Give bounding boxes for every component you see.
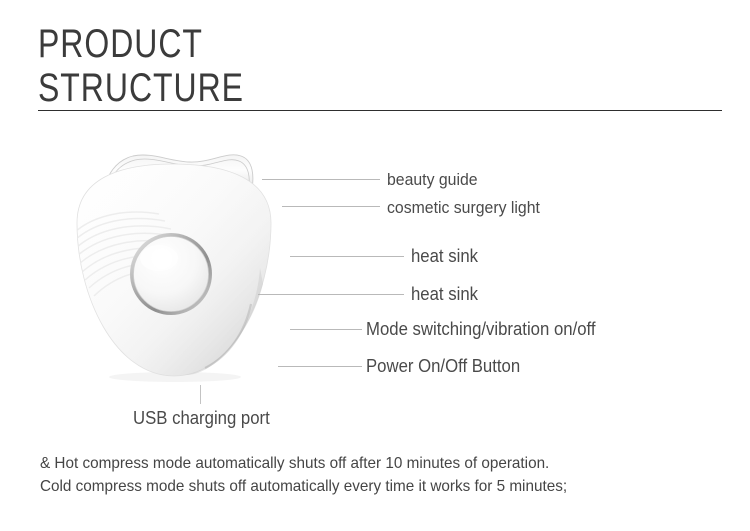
power-button-gloss bbox=[140, 245, 178, 271]
callout-label-mode-switching: Mode switching/vibration on/off bbox=[366, 319, 596, 339]
footnote-line-2: Cold compress mode shuts off automatical… bbox=[40, 475, 709, 498]
callout-label-heat-sink-lower: heat sink bbox=[411, 284, 478, 304]
power-button[interactable] bbox=[134, 237, 209, 312]
callout-label-power-button: Power On/Off Button bbox=[366, 356, 520, 376]
callout-label-usb-port: USB charging port bbox=[133, 408, 270, 428]
callout-label-cosmetic-light: cosmetic surgery light bbox=[387, 198, 540, 218]
page-title: PRODUCT STRUCTURE bbox=[38, 22, 374, 110]
leader-power-button bbox=[278, 366, 362, 367]
product-structure-page: PRODUCT STRUCTURE bbox=[0, 0, 750, 531]
title-divider bbox=[38, 110, 722, 111]
leader-heat-sink-lower bbox=[258, 294, 404, 295]
callout-label-heat-sink-upper: heat sink bbox=[411, 246, 478, 266]
leader-usb-port bbox=[200, 385, 201, 404]
leader-beauty-guide bbox=[262, 179, 380, 180]
leader-cosmetic-light bbox=[282, 206, 380, 207]
callout-label-beauty-guide: beauty guide bbox=[387, 170, 478, 190]
leader-mode-switching bbox=[290, 329, 362, 330]
footnote-line-1: & Hot compress mode automatically shuts … bbox=[40, 452, 709, 475]
leader-heat-sink-upper bbox=[290, 256, 404, 257]
